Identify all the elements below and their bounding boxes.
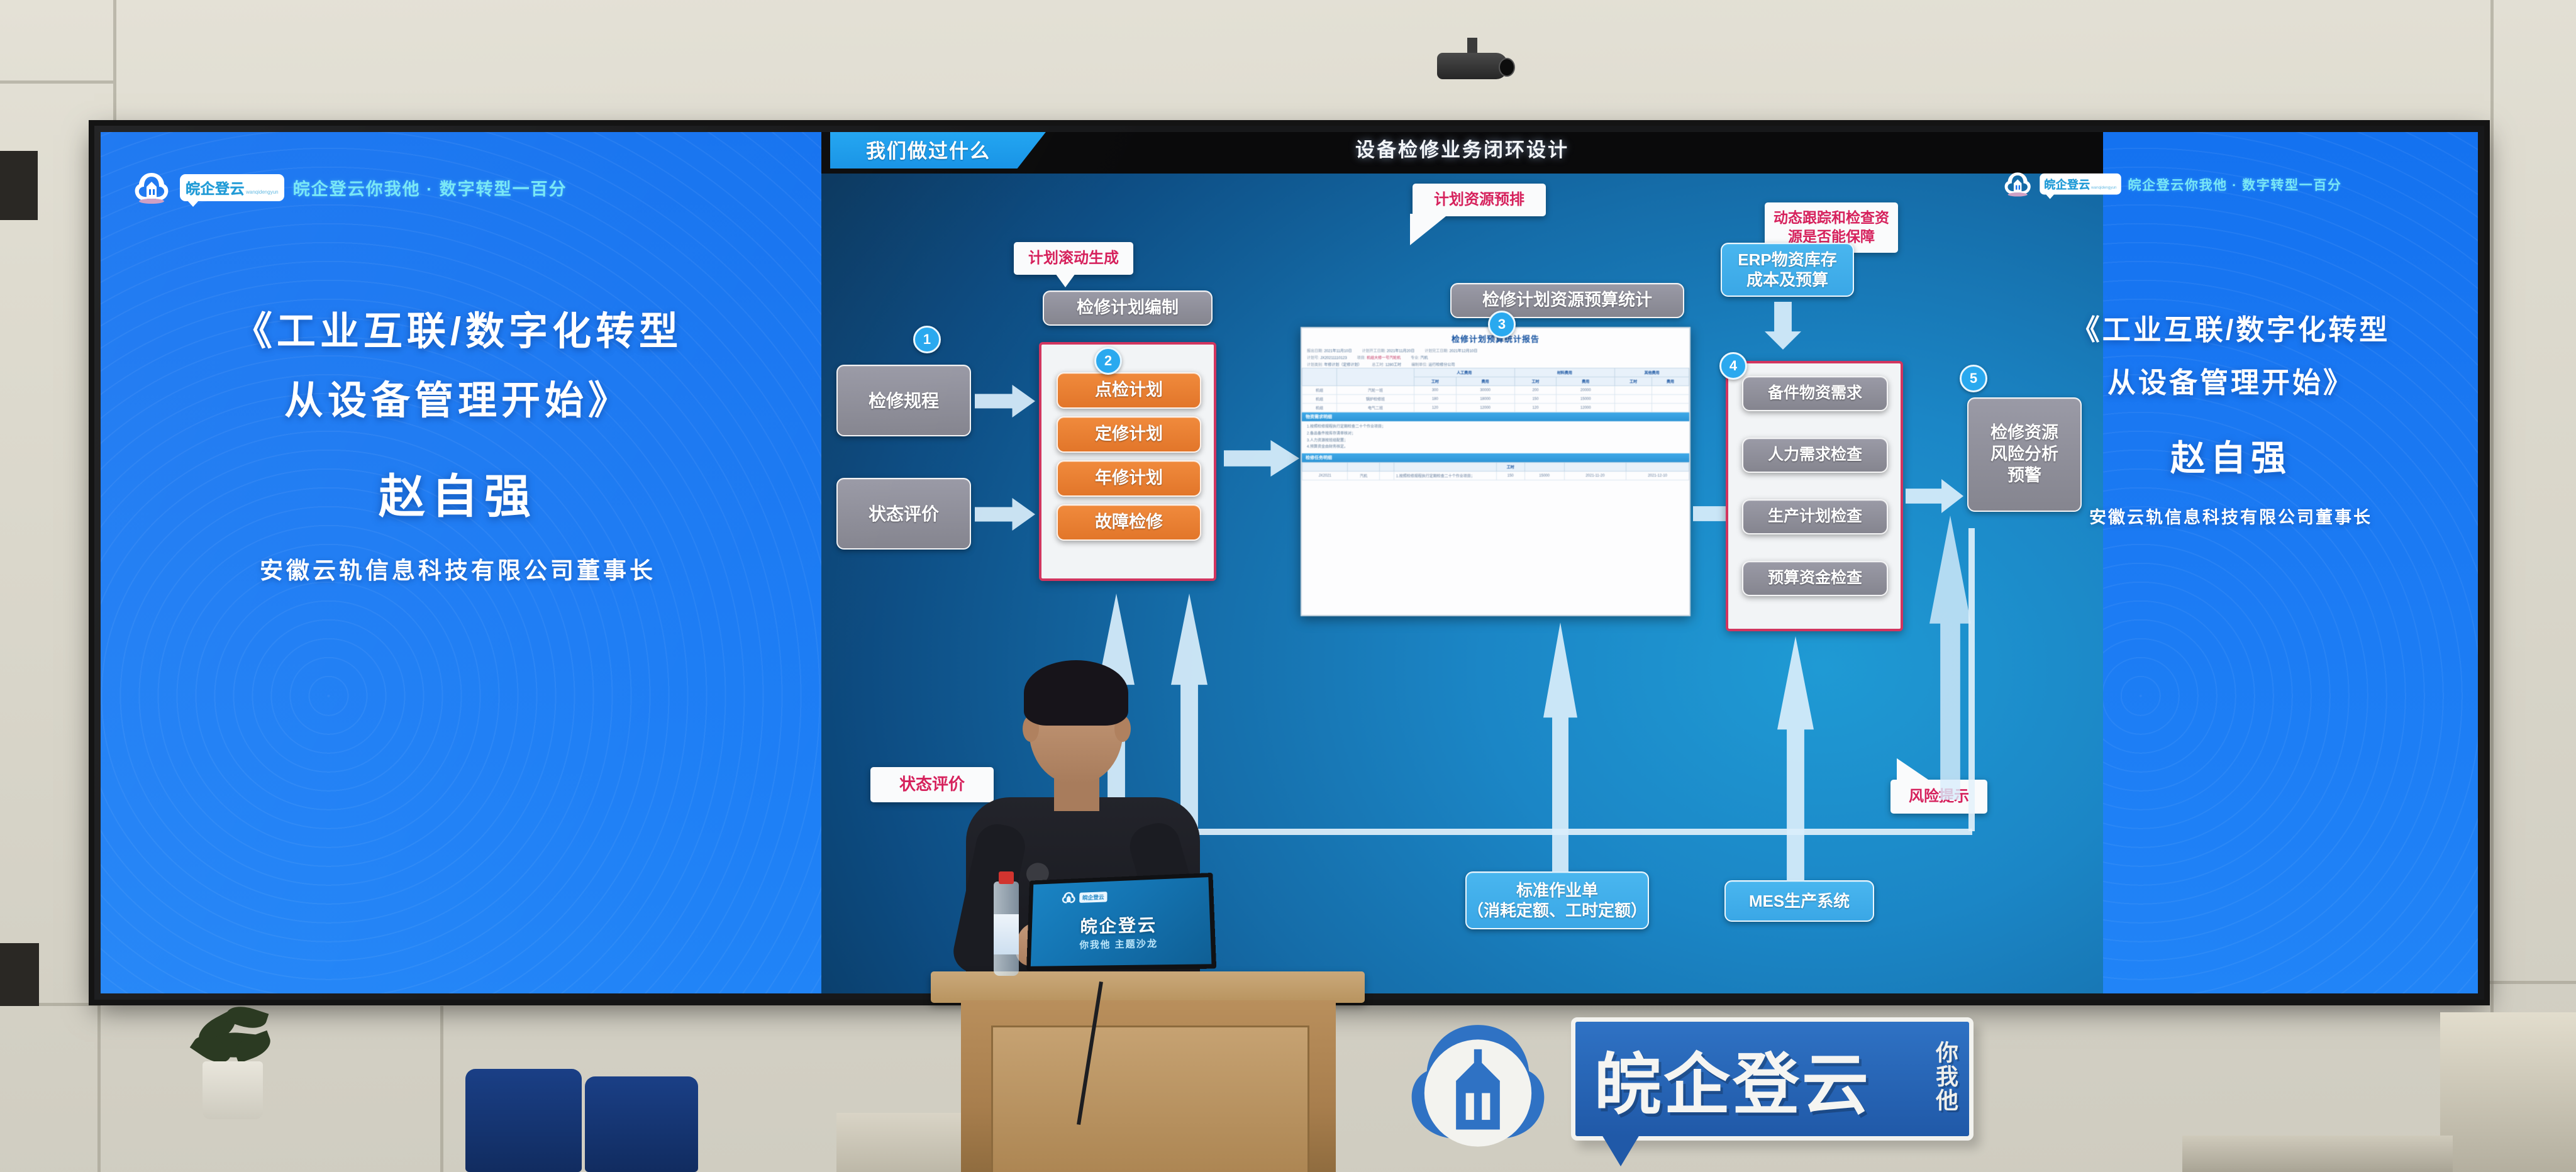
audience-chair xyxy=(465,1069,582,1172)
report-notes: 1.按照检修规程执行定期检查二十个作业项目； 2.备品备件按库存清单核对； 3.… xyxy=(1302,421,1689,453)
table-row: 机组汽轮一班 30030000 20020000 xyxy=(1302,386,1689,395)
laptop-screen: 皖企登云 皖企登云 你我他 主题沙龙 xyxy=(1026,873,1216,971)
step-badge-2: 2 xyxy=(1094,347,1122,375)
wall-tile-seam xyxy=(97,1003,101,1172)
wall-recess xyxy=(0,151,38,220)
cloud-logo-icon xyxy=(2002,171,2033,197)
conference-hall-photo: 皖企登云 wanqidengyun 皖企登云你我他 · 数字转型一百分 《工业互… xyxy=(0,0,2576,1172)
speaker-hair xyxy=(1024,660,1128,726)
node-plan-3: 故障检修 xyxy=(1057,504,1201,541)
arrow-up-icon xyxy=(1929,516,1971,800)
arrow-up-icon xyxy=(1543,622,1577,873)
water-bottle xyxy=(994,882,1019,976)
podium-top xyxy=(931,971,1365,1003)
wall-recess xyxy=(0,943,39,1006)
brand-logo-left: 皖企登云 wanqidengyun 皖企登云你我他 · 数字转型一百分 xyxy=(132,171,567,204)
callout-resource-prearrange: 计划资源预排 xyxy=(1413,184,1546,216)
slide-title: 设备检修业务闭环设计 xyxy=(821,134,2103,162)
table-header-row: 人工费用 材料费用 其他费用 xyxy=(1302,368,1689,377)
wall-tile-seam xyxy=(440,1006,443,1172)
panel-title-line2: 从设备管理开始》 xyxy=(94,371,821,431)
report-meta-row: 计划类别: 年修计划（定修计划） 总工时: 1280工时 编制单位: 运行检修分… xyxy=(1302,361,1689,368)
panel-title-line1: 《工业互联/数字化转型 xyxy=(94,302,821,362)
connector-line xyxy=(1092,829,1972,835)
left-title-panel: 皖企登云 wanqidengyun 皖企登云你我他 · 数字转型一百分 《工业互… xyxy=(94,126,821,1000)
led-video-wall: 皖企登云 wanqidengyun 皖企登云你我他 · 数字转型一百分 《工业互… xyxy=(94,126,2484,1000)
brand-logo-right: 皖企登云 wanqidengyun 皖企登云你我他 · 数字转型一百分 xyxy=(2002,171,2341,197)
wall-sign-text: 皖企登云 xyxy=(1594,1031,1871,1127)
wall-tile-seam xyxy=(113,0,116,129)
arrow-up-icon xyxy=(1777,636,1814,882)
wall-tile-seam xyxy=(2490,0,2494,1172)
node-plan-0: 点检计划 xyxy=(1057,372,1201,409)
node-standard-work-order: 标准作业单 （消耗定额、工时定额） xyxy=(1465,871,1649,929)
brand-bubble: 皖企登云 wanqidengyun xyxy=(2040,174,2121,195)
report-section-header: 检修任务明细 xyxy=(1302,453,1689,462)
node-plan-1: 定修计划 xyxy=(1057,416,1201,453)
panel-speaker-org: 安徽云轨信息科技有限公司董事长 xyxy=(1977,504,2484,528)
app-screenshot: 检修计划预算统计报告 报出日期: 2021年11月10日 计划开工日期: 202… xyxy=(1301,327,1690,616)
report-table: 人工费用 材料费用 其他费用 工时费用 工时费用 工时费用 机组汽轮一班 300… xyxy=(1302,368,1689,412)
node-erp-inventory: ERP物资库存 成本及预算 xyxy=(1721,243,1854,297)
podium-laptop: 皖企登云 皖企登云 你我他 主题沙龙 xyxy=(1026,873,1216,971)
brand-logo-text: 皖企登云 xyxy=(186,177,245,198)
step-badge-5: 5 xyxy=(1960,365,1987,392)
report-section-header: 物资需求明细 xyxy=(1302,412,1689,421)
node-inspection-rules: 检修规程 xyxy=(836,365,971,436)
brand-logo-subtext: wanqidengyun xyxy=(2091,185,2116,189)
report-meta-row: 计划号: JX20211110123 项目: 机组大修一号汽轮机 专业: 汽机 xyxy=(1302,354,1689,361)
cloud-logo-icon xyxy=(1402,1011,1553,1156)
node-check-2: 生产计划检查 xyxy=(1742,499,1888,534)
callout-rolling-plan: 计划滚动生成 xyxy=(1014,242,1133,275)
step-badge-1: 1 xyxy=(913,326,941,353)
connector-line xyxy=(1968,528,1975,831)
audience-chair xyxy=(585,1076,698,1172)
brand-logo-text: 皖企登云 xyxy=(2044,175,2090,192)
cloud-logo-icon xyxy=(132,171,171,204)
laptop-title: 皖企登云 xyxy=(1031,910,1210,939)
wall-sign-subtext: 你我他 xyxy=(1929,1041,1962,1112)
panel-title-line2: 从设备管理开始》 xyxy=(1977,361,2484,405)
brand-logo-subtext: wanqidengyun xyxy=(246,190,279,195)
plant-pot xyxy=(203,1061,263,1119)
report-meta-row: 报出日期: 2021年11月10日 计划开工日期: 2021年11月20日 计划… xyxy=(1302,347,1689,354)
podium-front-panel xyxy=(991,1025,1309,1172)
step-badge-3: 3 xyxy=(1488,311,1516,338)
panel-speaker-name: 赵自强 xyxy=(1977,430,2484,481)
brand-tagline: 皖企登云你我他 · 数字转型一百分 xyxy=(293,175,567,200)
report-detail-table: 工时 JX2021汽机 1.按照检修规程执行定期检查二十个作业项目； 15015… xyxy=(1302,462,1689,480)
potted-plant xyxy=(189,1000,283,1119)
node-check-1: 人力需求检查 xyxy=(1742,438,1888,473)
node-plan-2: 年修计划 xyxy=(1057,460,1201,497)
step-badge-4: 4 xyxy=(1719,352,1747,380)
arrow-right-icon xyxy=(1224,440,1299,477)
security-camera-icon xyxy=(1431,38,1519,88)
brand-tagline: 皖企登云你我他 · 数字转型一百分 xyxy=(2128,174,2341,193)
panel-speaker-name: 赵自强 xyxy=(94,459,821,526)
node-condition-eval: 状态评价 xyxy=(836,478,971,550)
arrow-right-icon xyxy=(975,385,1035,417)
panel-speaker-org: 安徽云轨信息科技有限公司董事长 xyxy=(94,551,821,585)
wall-sign-plate: 皖企登云 你我他 xyxy=(1571,1017,1974,1141)
arrow-right-icon xyxy=(1906,479,1963,513)
panel-title-line1: 《工业互联/数字化转型 xyxy=(1977,308,2484,352)
wall-tile-seam xyxy=(0,80,113,84)
arrow-down-icon xyxy=(1765,302,1801,350)
node-mes-system: MES生产系统 xyxy=(1724,880,1874,922)
audience-desk xyxy=(2440,1012,2576,1172)
node-plan-authoring: 检修计划编制 xyxy=(1043,290,1213,326)
table-row: 机组电气二班 12012000 12012000 xyxy=(1302,404,1689,412)
table-row: 机组锅炉检修班 18018000 15015000 xyxy=(1302,395,1689,404)
laptop-brand-badge: 皖企登云 xyxy=(1061,890,1108,905)
brand-bubble: 皖企登云 wanqidengyun xyxy=(180,174,284,201)
table-header-row: 工时 xyxy=(1302,463,1689,472)
wall-brand-sign: 皖企登云 你我他 xyxy=(1402,1006,2038,1163)
audience-desk xyxy=(2182,1136,2453,1172)
node-check-3: 预算资金检查 xyxy=(1742,561,1888,596)
node-plan-budget-stats: 检修计划资源预算统计 xyxy=(1450,283,1684,318)
arrow-right-icon xyxy=(975,498,1035,531)
table-row: JX2021汽机 1.按照检修规程执行定期检查二十个作业项目； 15015000… xyxy=(1302,472,1689,480)
speaking-podium xyxy=(931,971,1365,1172)
node-check-0: 备件物资需求 xyxy=(1742,376,1888,411)
laptop-badge-text: 皖企登云 xyxy=(1079,892,1107,903)
